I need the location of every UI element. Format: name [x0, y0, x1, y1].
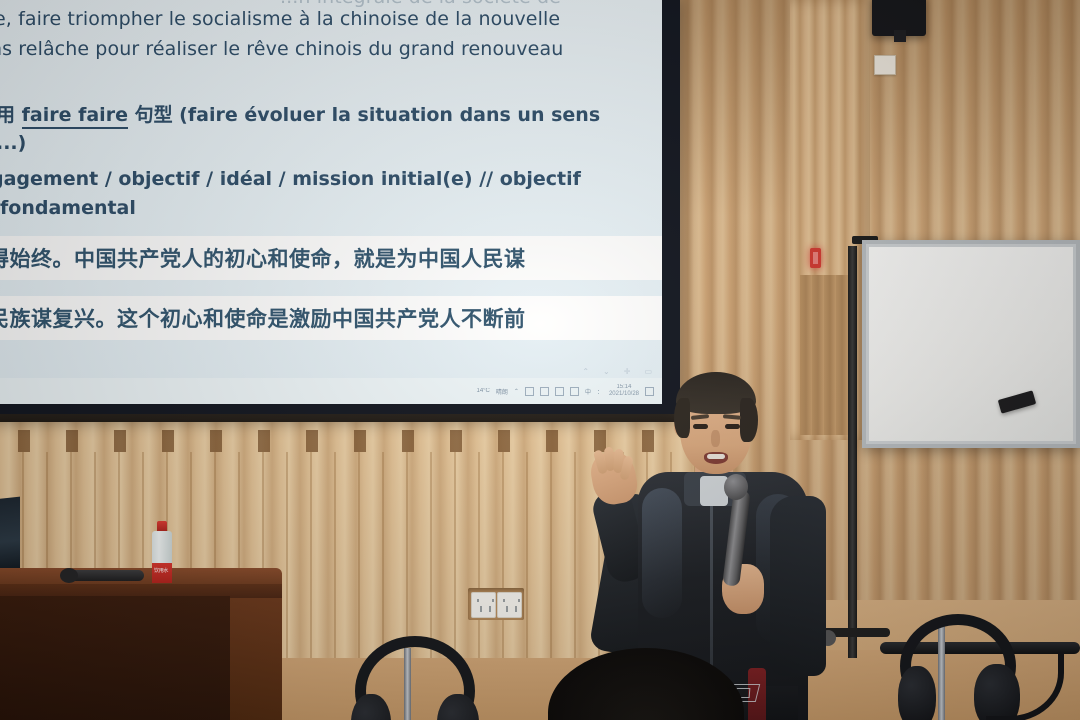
slide-content: ...n intégrale de la société de e, faire… [0, 0, 662, 404]
lecture-hall-photo: ...n intégrale de la société de e, faire… [0, 0, 1080, 720]
whiteboard[interactable] [862, 240, 1080, 448]
slide-line-7: 得始终。中国共产党人的初心和使命，就是为中国人民谋 [0, 243, 526, 273]
slide-line-3-prefix: 用 [0, 104, 22, 126]
interpretation-headphones-left[interactable] [355, 636, 475, 720]
headphone-earcup-left [898, 666, 936, 720]
windows-taskbar[interactable]: 14°C 晴朗 ⌃ 中 ： 15:14 2021/10/28 [0, 378, 662, 404]
whiteboard-eraser[interactable] [998, 390, 1036, 413]
presenter-nose [711, 430, 720, 447]
slide-line-4: ...) [0, 132, 26, 154]
taskbar-weather: 晴朗 [496, 387, 508, 396]
bottle-label-text: 饮用水 [154, 567, 168, 574]
slide-line-1: e, faire triompher le socialisme à la ch… [0, 8, 560, 30]
socket-prong-slots-lower-icon [506, 606, 517, 612]
slide-line-0: ...n intégrale de la société de [280, 0, 561, 8]
taskbar-security-icon[interactable] [525, 387, 534, 396]
wall-socket-recess [468, 588, 524, 620]
taskbar-temperature: 14°C [476, 388, 489, 394]
presenter-hair-side-left [674, 398, 690, 438]
water-bottle[interactable]: 饮用水 [152, 521, 172, 579]
slide-line-3: 用 faire faire 句型 (faire évoluer la situa… [0, 100, 600, 127]
slide-line-8: 民族谋复兴。这个初心和使命是激励中国共产党人不断前 [0, 303, 526, 333]
taskbar-volume-icon[interactable] [555, 387, 564, 396]
taskbar-show-hidden-icons-icon[interactable]: ⌃ [514, 388, 519, 395]
presenter-eye-right [725, 424, 740, 429]
red-exit-indicator [810, 248, 821, 268]
taskbar-network-icon[interactable] [540, 387, 549, 396]
laptop-on-podium[interactable] [0, 497, 20, 572]
podium-front-panel [0, 596, 230, 720]
socket-prong-slots-icon [503, 599, 520, 602]
socket-prong-slots-icon [477, 599, 494, 602]
presenter-teeth [707, 454, 725, 459]
bottle-label: 饮用水 [152, 563, 172, 583]
podium-microphone[interactable] [68, 570, 144, 581]
slide-line-6: fondamental [0, 197, 136, 219]
presenter-right-arm [770, 496, 826, 676]
presenter-mouth [704, 452, 728, 464]
whiteboard-surface[interactable] [869, 247, 1073, 441]
slide-line-3-keyword: faire faire [22, 104, 128, 129]
wall-switch-plate[interactable] [874, 55, 896, 75]
slide-line-2: ns relâche pour réaliser le rêve chinois… [0, 38, 563, 60]
wall-socket-right[interactable] [497, 592, 522, 618]
speaker-mount-arm [894, 30, 906, 42]
projection-screen: ...n intégrale de la société de e, faire… [0, 0, 662, 404]
jacket-highlight-left [642, 488, 682, 618]
taskbar-ime-icon[interactable] [570, 387, 579, 396]
socket-prong-slots-lower-icon [480, 606, 491, 612]
presenter-hair-side-right [740, 398, 758, 442]
presenter-eye-left [693, 424, 708, 429]
slide-line-5: gagement / objectif / idéal / mission in… [0, 168, 581, 190]
wall-socket-left[interactable] [471, 592, 496, 618]
slide-line-3-suffix: 句型 (faire évoluer la situation dans un s… [128, 104, 600, 126]
bottle-body: 饮用水 [152, 531, 172, 579]
